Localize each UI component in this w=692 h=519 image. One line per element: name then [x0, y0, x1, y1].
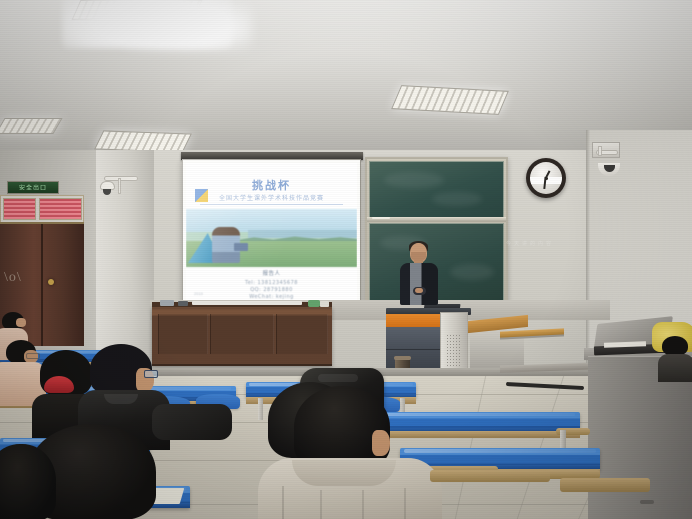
cabinet-handle[interactable] [640, 500, 654, 504]
slide-contact-block: 报告人 Tel: 13812345678 QQ: 28791880 WeChat… [186, 271, 357, 300]
jacket-seam [362, 490, 364, 519]
person-hair [662, 336, 688, 356]
slide-subtitle: 全国大学生课外学术科技作品竞赛 [186, 193, 357, 202]
camera-mount-pole [598, 146, 602, 156]
ceiling-light-fixture [0, 118, 63, 134]
slide-contact-2: QQ: 28791880 [186, 287, 357, 294]
exit-sign: 安全出口 [7, 181, 59, 194]
wooden-credenza [152, 306, 332, 366]
red-hood [44, 376, 74, 393]
credenza-panel [276, 314, 328, 354]
eyeglasses-icon [144, 370, 158, 378]
door-marking: \o\ [4, 270, 22, 286]
presenter-torso [400, 263, 438, 305]
chalk-piece [372, 217, 390, 219]
presenter-hand-skin [415, 288, 423, 293]
person-ear [372, 430, 390, 456]
lectern-orange-panel [386, 314, 442, 328]
transom-pane [39, 198, 82, 220]
wall-clock [526, 158, 566, 198]
long-pointer-stick [192, 301, 302, 305]
slide-divider [200, 204, 343, 205]
green-box [308, 300, 320, 307]
audience-member [660, 336, 692, 380]
door-knob[interactable] [48, 279, 54, 285]
exit-sign-label: 安全出口 [19, 183, 47, 191]
photo-sky [186, 209, 357, 232]
slide-presenter-line: 报告人 [186, 271, 357, 278]
ceiling-light-glare [122, 0, 252, 50]
blackboard-chalk-text: 今天讲的内容 [506, 240, 570, 254]
lecture-hall-photo: 安全出口 \o\ 挑战杯 全国大学生课外学术科技作品竞赛 [0, 0, 692, 519]
speaker-grille-icon [446, 334, 462, 366]
credenza-items [152, 300, 332, 308]
camera-mount-pole [118, 178, 121, 194]
slide-contact-1: Tel: 13812345678 [186, 280, 357, 287]
jacket-seam [282, 486, 284, 519]
slide-title: 挑战杯 [186, 177, 357, 193]
desk-object [320, 301, 329, 307]
person-hair [0, 444, 56, 519]
person-torso [658, 354, 692, 382]
slide-photo [186, 209, 357, 267]
backpack-strap [318, 374, 358, 382]
credenza-panel [210, 314, 274, 354]
desk-object [178, 301, 188, 306]
audience-member-foreground [258, 408, 442, 519]
clock-center-pin [545, 177, 548, 180]
presenter [398, 243, 440, 305]
audience-member-foreground [0, 444, 56, 519]
projection-screen: 挑战杯 全国大学生课外学术科技作品竞赛 报告人 Tel: 13812345678… [182, 159, 361, 304]
jacket-seam [404, 488, 406, 519]
jacket-hood [292, 460, 396, 486]
bench-wood-edge [430, 470, 550, 482]
credenza-panel [158, 314, 208, 354]
desk-object [160, 300, 174, 306]
backpack [152, 404, 232, 440]
photo-lake [248, 230, 357, 238]
clock-face [530, 162, 562, 194]
door-center-seam [41, 224, 43, 346]
photo-book [234, 243, 248, 251]
bench-wood-edge [560, 478, 650, 492]
presentation-slide: 挑战杯 全国大学生课外学术科技作品竞赛 报告人 Tel: 13812345678… [186, 163, 357, 300]
transom-window [0, 195, 84, 223]
jacket-seam [320, 490, 322, 519]
blackboard-upper-panel [369, 161, 504, 219]
person-face [16, 318, 26, 327]
slide-footer: 2019 [194, 291, 203, 296]
jacket-collar [104, 394, 138, 404]
transom-pane [3, 198, 36, 220]
